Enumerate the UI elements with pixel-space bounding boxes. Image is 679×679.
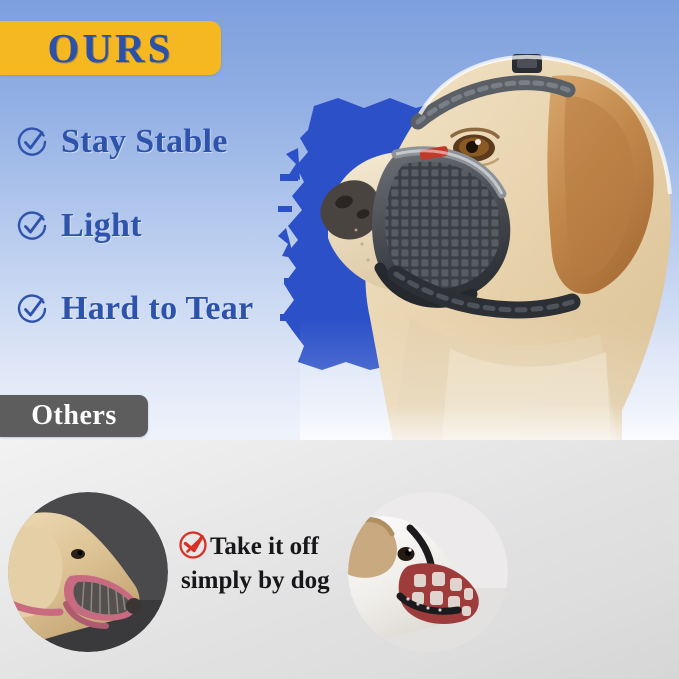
feature-label: Hard to Tear <box>61 292 254 326</box>
others-section: Others <box>0 392 679 679</box>
con-item-take-it-off: Take it off simply by dog <box>0 488 340 658</box>
con-line-1-text: Take it off <box>210 533 319 560</box>
circled-check-icon <box>16 293 48 325</box>
con-text: Take it off simply by dog <box>178 530 340 598</box>
con-dog-photo-pink-muzzle <box>8 492 168 652</box>
feature-label: Light <box>61 209 142 243</box>
feature-item-hard-to-tear: Hard to Tear <box>16 292 254 326</box>
feature-item-stay-stable: Stay Stable <box>16 125 228 159</box>
con-line-1: Take it off <box>178 530 340 564</box>
infographic-canvas: OURS Stay Stable Light Hard to Tear <box>0 0 679 679</box>
circled-check-icon <box>16 126 48 158</box>
circled-x-icon <box>178 530 208 560</box>
feature-item-light: Light <box>16 209 142 243</box>
ours-badge: OURS <box>0 21 221 75</box>
con-dog-photo-basket-muzzle <box>348 492 508 652</box>
con-item-too-heavy: Too heavy &Bad smell <box>340 488 679 658</box>
others-badge-label: Others <box>31 402 116 430</box>
circled-check-icon <box>16 210 48 242</box>
others-badge: Others <box>0 395 148 437</box>
ours-section: OURS Stay Stable Light Hard to Tear <box>0 0 679 455</box>
ours-badge-label: OURS <box>48 28 174 69</box>
con-line-2: simply by dog <box>178 564 340 598</box>
feature-label: Stay Stable <box>61 125 228 159</box>
